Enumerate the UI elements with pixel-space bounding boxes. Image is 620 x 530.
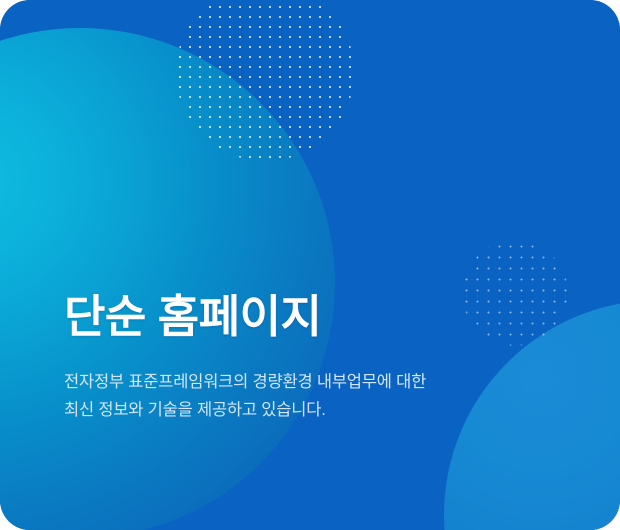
hero-subtitle: 전자정부 표준프레임워크의 경량환경 내부업무에 대한 최신 정보와 기술을 제…	[64, 368, 574, 424]
hero-content: 단순 홈페이지 전자정부 표준프레임워크의 경량환경 내부업무에 대한 최신 정…	[64, 292, 574, 424]
dot-grid-top-icon	[145, 0, 385, 192]
hero-subtitle-line-2: 최신 정보와 기술을 제공하고 있습니다.	[64, 396, 574, 424]
hero-subtitle-line-1: 전자정부 표준프레임워크의 경량환경 내부업무에 대한	[64, 368, 574, 396]
hero-banner: 단순 홈페이지 전자정부 표준프레임워크의 경량환경 내부업무에 대한 최신 정…	[0, 0, 620, 530]
page-title: 단순 홈페이지	[64, 292, 574, 342]
